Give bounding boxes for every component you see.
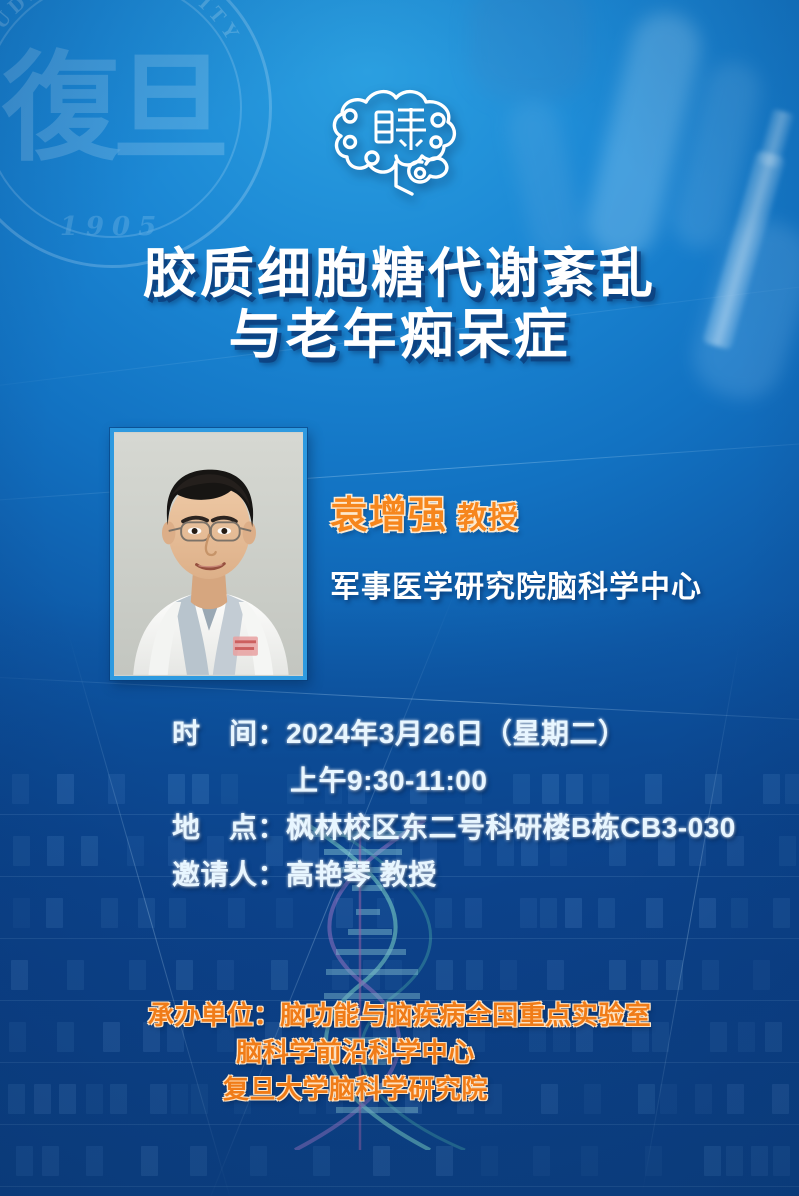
detail-value-time-range: 上午9:30-11:00 xyxy=(290,765,487,796)
detail-row-time-range: 上午9:30-11:00 xyxy=(0,759,799,799)
speaker-name-block: 袁增强教授 xyxy=(330,484,519,539)
title-line-2: 与老年痴呆症 xyxy=(0,305,799,366)
speaker-role: 教授 xyxy=(457,502,519,535)
speaker-name: 袁增强 xyxy=(330,495,447,537)
organizer-line-1: 承办单位：脑功能与脑疾病全国重点实验室 xyxy=(0,997,799,1034)
poster-title: 胶质细胞糖代谢紊乱 与老年痴呆症 xyxy=(0,244,799,366)
event-details: 时 间：2024年3月26日（星期二） 上午9:30-11:00 地 点：枫林校… xyxy=(0,712,799,900)
organizer-line-2: 脑科学前沿科学中心 xyxy=(0,1034,799,1071)
speaker-portrait-image xyxy=(114,432,303,676)
organizers-block: 承办单位：脑功能与脑疾病全国重点实验室 脑科学前沿科学中心 复旦大学脑科学研究院 xyxy=(0,997,799,1108)
detail-label-host: 邀请人： xyxy=(172,853,286,893)
speaker-photo xyxy=(110,428,307,680)
brain-logo-icon xyxy=(326,78,474,198)
detail-value-time: 2024年3月26日（星期二） xyxy=(286,718,627,749)
seminar-poster: 復旦 1905 FUDAN UNIVERSITY xyxy=(0,0,799,1196)
title-line-1: 胶质细胞糖代谢紊乱 xyxy=(0,244,799,305)
detail-value-location: 枫林校区东二号科研楼B栋CB3-030 xyxy=(286,812,736,843)
speaker-affiliation: 军事医学研究院脑科学中心 xyxy=(330,562,702,606)
detail-label-time: 时 间： xyxy=(172,712,286,752)
detail-row-time: 时 间：2024年3月26日（星期二） xyxy=(0,712,799,752)
organizer-label: 承办单位： xyxy=(148,1000,281,1030)
detail-row-host: 邀请人：高艳琴 教授 xyxy=(0,853,799,893)
detail-value-host: 高艳琴 教授 xyxy=(286,859,437,890)
organizer-line-3: 复旦大学脑科学研究院 xyxy=(0,1071,799,1108)
detail-label-location: 地 点： xyxy=(172,806,286,846)
organizer-name-1: 脑功能与脑疾病全国重点实验室 xyxy=(280,1000,651,1030)
detail-row-location: 地 点：枫林校区东二号科研楼B栋CB3-030 xyxy=(0,806,799,846)
